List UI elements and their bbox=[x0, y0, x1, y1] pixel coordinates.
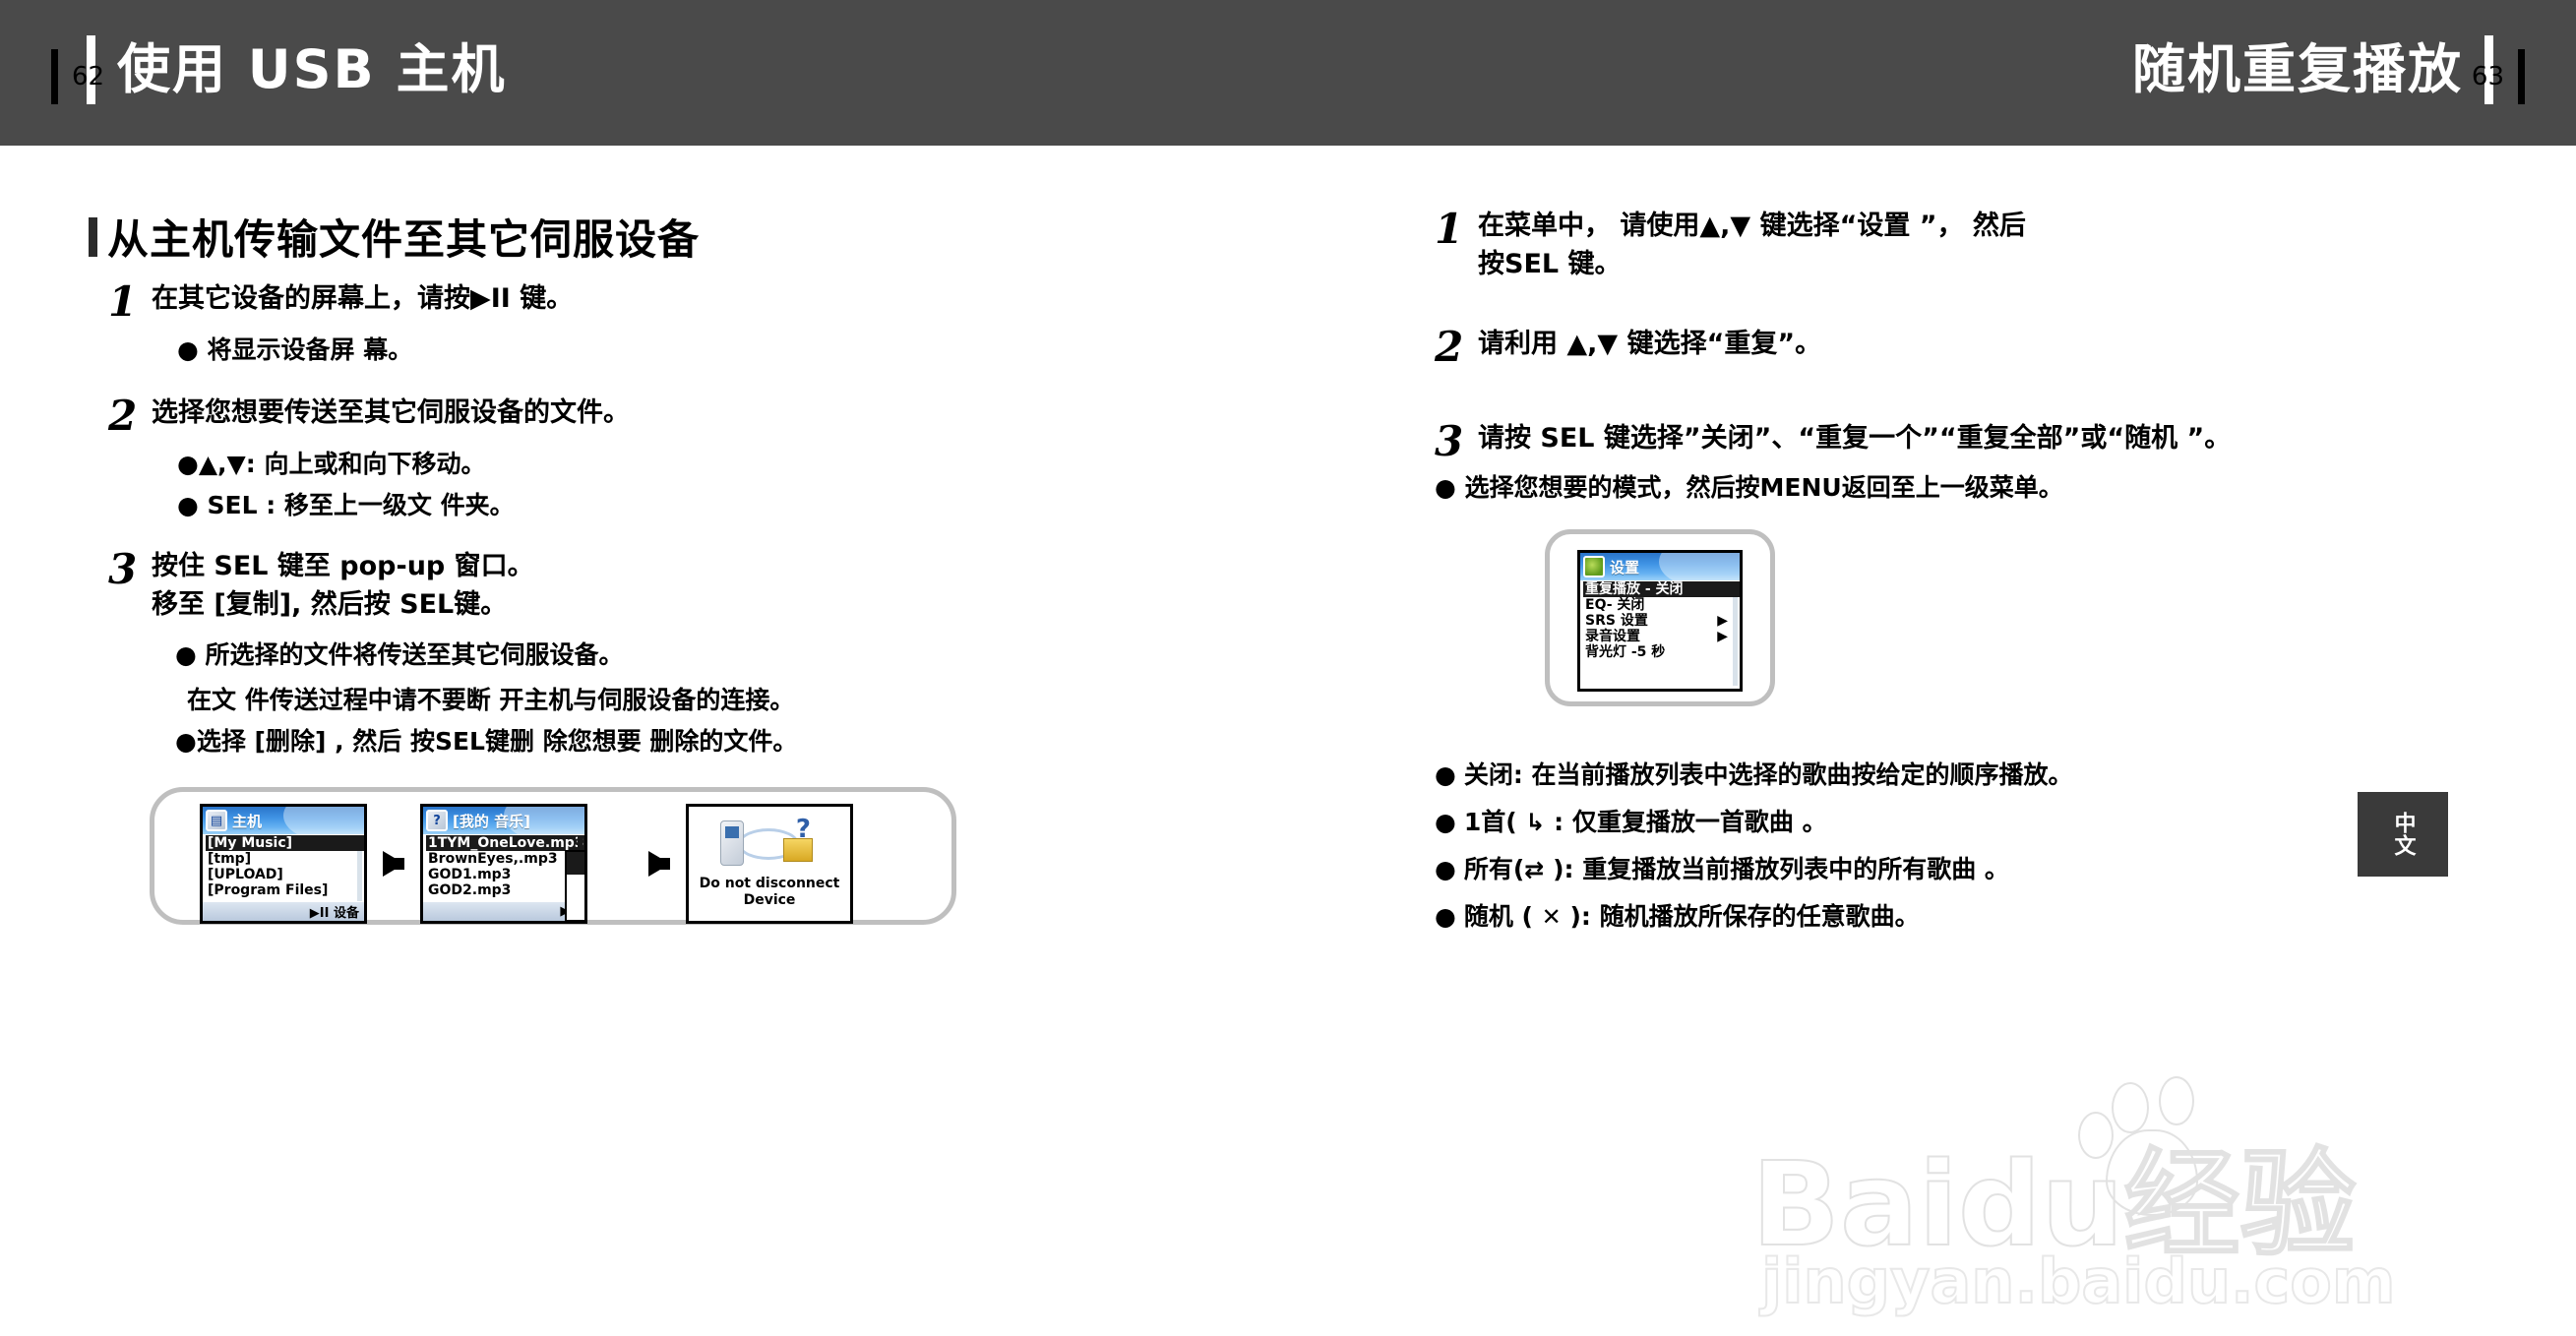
repeat-all-icon: ⇄ bbox=[1524, 856, 1544, 883]
left-section-title-row: 从主机传输文件至其它伺服设备 bbox=[89, 207, 700, 267]
left-step-3-line-1: 按住 SEL 键至 pop-up 窗口。 bbox=[152, 547, 534, 585]
mymusic-row-1-label: BrownEyes,.mp3 bbox=[428, 851, 558, 867]
left-step-2-bullet-2: ● SEL : 移至上一级文 件夹。 bbox=[177, 488, 515, 522]
left-step-3-number: 3 bbox=[108, 547, 152, 590]
left-step-2-number: 2 bbox=[108, 394, 152, 437]
host-footer: ▶II 设备 bbox=[203, 902, 364, 921]
right-step-2-number: 2 bbox=[1435, 325, 1478, 368]
settings-row-0-label: 重复播放 - 关闭 bbox=[1585, 581, 1684, 597]
left-step-2-line-1: 选择您想要传送至其它伺服设备的文件。 bbox=[152, 394, 630, 432]
device-screen-host-titlebar: ▤ 主机 bbox=[203, 807, 364, 834]
list-item[interactable]: EQ- 关闭 bbox=[1583, 597, 1740, 613]
question-folder-icon: ? bbox=[426, 810, 448, 831]
baidu-watermark-sub: jingyan.baidu.com bbox=[1761, 1245, 2395, 1317]
settings-row-2-label: SRS 设置 bbox=[1585, 613, 1648, 629]
mode-bullet-off-text: 关闭: 在当前播放列表中选择的歌曲按给定的顺序播放。 bbox=[1464, 760, 2073, 789]
left-step-1-bullet-1: ● 将显示设备屏 幕。 bbox=[177, 333, 412, 367]
mode-bullet-shuffle-pre: 随机 ( bbox=[1464, 902, 1542, 931]
mode-bullet-all-post: ): 重复播放当前播放列表中的所有歌曲 。 bbox=[1544, 855, 2009, 883]
usb-connection-illustration-icon: ? bbox=[710, 819, 828, 870]
left-step-3-line-2: 移至 [复制], 然后按 SEL键。 bbox=[152, 585, 534, 624]
right-step-2: 2 请利用 ▲,▼ 键选择“重复”。 bbox=[1435, 325, 1821, 368]
left-step-3-bullet-2: ●选择 [删除] , 然后 按SEL键删 除您想要 删除的文件。 bbox=[175, 724, 797, 759]
mode-bullet-one-pre: 1首( bbox=[1464, 808, 1526, 836]
device-screen-settings-title: 设置 bbox=[1610, 557, 1639, 577]
list-item[interactable]: GOD2.mp3 bbox=[426, 882, 584, 898]
device-screen-mymusic-title: [我的 音乐] bbox=[453, 811, 530, 831]
usb-transfer-screens-row: ▤ 主机 [My Music] [tmp] [UPLOAD] [Program … bbox=[200, 804, 853, 924]
mode-bullet-all-pre: 所有( bbox=[1464, 855, 1524, 883]
device-screen-mymusic: ? [我的 音乐] 1TYM_OneLove.mp3 BrownEyes,.mp… bbox=[420, 804, 587, 924]
mode-bullet-one-post: : 仅重复播放一首歌曲 。 bbox=[1545, 808, 1826, 836]
mode-bullet-shuffle: ●随机 ( ✕ ): 随机播放所保存的任意歌曲。 bbox=[1435, 897, 1920, 933]
left-step-3-bullet-1: ● 所选择的文件将传送至其它伺服设备。 bbox=[175, 638, 624, 672]
left-step-2-body: 选择您想要传送至其它伺服设备的文件。 bbox=[152, 394, 630, 432]
mode-bullet-all-dot-icon: ● bbox=[1435, 855, 1456, 883]
right-step-3-number: 3 bbox=[1435, 419, 1478, 462]
host-row-0-label: [My Music] bbox=[208, 835, 292, 851]
header-right-group: 随机重复播放 bbox=[2132, 35, 2493, 104]
right-step-1: 1 在菜单中， 请使用▲,▼ 键选择“设置 ”， 然后 按SEL 键。 bbox=[1435, 207, 2026, 283]
header-left-title: 使用 USB 主机 bbox=[117, 35, 507, 104]
shuffle-icon: ✕ bbox=[1542, 903, 1562, 931]
context-popup-menu: 复制 删除 放弃 bbox=[565, 850, 587, 922]
right-page-number: 63 bbox=[2472, 62, 2504, 91]
settings-row-1-label: EQ- 关闭 bbox=[1585, 597, 1644, 613]
right-step-3: 3 请按 SEL 键选择”关闭”、“重复一个”“重复全部”或“随机 ”。 bbox=[1435, 419, 2231, 462]
mode-bullet-shuffle-post: ): 随机播放所保存的任意歌曲。 bbox=[1562, 902, 1920, 931]
usb-transfer-screens-frame: ▤ 主机 [My Music] [tmp] [UPLOAD] [Program … bbox=[150, 787, 956, 925]
left-page-number: 62 bbox=[72, 62, 104, 91]
mode-bullet-one-dot-icon: ● bbox=[1435, 808, 1456, 836]
language-tab-label: 中文 bbox=[2391, 812, 2414, 857]
device-screen-settings-list: 重复播放 - 关闭 EQ- 关闭 SRS 设置▶ 录音设置▶ 背光灯 -5 秒 bbox=[1580, 580, 1740, 691]
right-step-3-bullet-1: ● 选择您想要的模式，然后按MENU返回至上一级菜单。 bbox=[1435, 470, 2063, 505]
mode-bullet-all: ●所有(⇄ ): 重复播放当前播放列表中的所有歌曲 。 bbox=[1435, 850, 2009, 885]
popup-menu-item-copy[interactable]: 复制 bbox=[567, 852, 587, 875]
list-item[interactable]: [UPLOAD] bbox=[206, 867, 364, 882]
right-step-3-body: 请按 SEL 键选择”关闭”、“重复一个”“重复全部”或“随机 ”。 bbox=[1478, 419, 2231, 457]
left-step-1-line-1: 在其它设备的屏幕上，请按▶II 键。 bbox=[152, 279, 573, 318]
settings-screen-frame: 设置 重复播放 - 关闭 EQ- 关闭 SRS 设置▶ 录音设置▶ 背光灯 -5… bbox=[1545, 529, 1775, 706]
right-step-2-body: 请利用 ▲,▼ 键选择“重复”。 bbox=[1478, 325, 1821, 363]
right-step-1-number: 1 bbox=[1435, 207, 1478, 250]
list-item[interactable]: GOD1.mp3 bbox=[426, 867, 584, 882]
right-step-1-line-2: 按SEL 键。 bbox=[1478, 245, 2026, 283]
flow-arrow-1-icon bbox=[383, 851, 404, 877]
device-folder-icon: ▤ bbox=[206, 810, 227, 831]
host-row-3-label: [Program Files] bbox=[208, 882, 328, 898]
page-body: 从主机传输文件至其它伺服设备 1 在其它设备的屏幕上，请按▶II 键。 ● 将显… bbox=[0, 146, 2576, 1294]
left-page-number-group: 62 bbox=[51, 49, 104, 104]
baidu-watermark: Baidu经验 jingyan.baidu.com bbox=[1663, 1080, 2489, 1336]
left-step-2-bullet-1: ●▲,▼: 向上或和向下移动。 bbox=[177, 447, 485, 481]
repeat-one-icon: ↳ bbox=[1525, 809, 1545, 836]
page-header: 使用 USB 主机 随机重复播放 bbox=[0, 0, 2576, 146]
left-step-1: 1 在其它设备的屏幕上，请按▶II 键。 bbox=[108, 279, 573, 323]
section-title-tick-icon bbox=[89, 217, 97, 257]
mymusic-row-3-label: GOD2.mp3 bbox=[428, 882, 511, 898]
left-step-3-body: 按住 SEL 键至 pop-up 窗口。 移至 [复制], 然后按 SEL键。 bbox=[152, 547, 534, 624]
mymusic-row-2-label: GOD1.mp3 bbox=[428, 867, 511, 882]
settings-scrollbar[interactable] bbox=[1733, 582, 1738, 686]
list-item[interactable]: 重复播放 - 关闭 bbox=[1583, 581, 1740, 597]
left-step-1-number: 1 bbox=[108, 279, 152, 323]
flow-arrow-2-icon bbox=[648, 851, 670, 877]
list-item[interactable]: [My Music] bbox=[206, 835, 364, 851]
list-item[interactable]: BrownEyes,.mp3 bbox=[426, 851, 584, 867]
device-screen-settings-titlebar: 设置 bbox=[1580, 553, 1740, 580]
device-screen-host-title: 主机 bbox=[232, 811, 262, 831]
device-screen-mymusic-list: 1TYM_OneLove.mp3 BrownEyes,.mp3 GOD1.mp3… bbox=[423, 834, 584, 905]
language-tab: 中文 bbox=[2358, 792, 2448, 877]
list-item[interactable]: 录音设置▶ bbox=[1583, 629, 1740, 644]
left-step-1-body: 在其它设备的屏幕上，请按▶II 键。 bbox=[152, 279, 573, 318]
list-item[interactable]: [Program Files] bbox=[206, 882, 364, 898]
chevron-right-icon: ▶ bbox=[1717, 629, 1728, 644]
list-item[interactable]: [tmp] bbox=[206, 851, 364, 867]
left-step-3: 3 按住 SEL 键至 pop-up 窗口。 移至 [复制], 然后按 SEL键… bbox=[108, 547, 534, 624]
list-item[interactable]: 背光灯 -5 秒 bbox=[1583, 644, 1740, 660]
device-screen-host: ▤ 主机 [My Music] [tmp] [UPLOAD] [Program … bbox=[200, 804, 367, 924]
mymusic-footer: ▶II bbox=[423, 902, 584, 921]
right-step-1-line-1: 在菜单中， 请使用▲,▼ 键选择“设置 ”， 然后 bbox=[1478, 207, 2026, 245]
right-step-1-body: 在菜单中， 请使用▲,▼ 键选择“设置 ”， 然后 按SEL 键。 bbox=[1478, 207, 2026, 283]
right-page-number-bar-icon bbox=[2518, 49, 2525, 104]
baidu-watermark-main: Baidu经验 bbox=[1751, 1110, 2357, 1278]
popup-menu-item-cancel[interactable]: 放弃 bbox=[567, 897, 587, 920]
left-page-number-bar-icon bbox=[51, 49, 58, 104]
section-title: 从主机传输文件至其它伺服设备 bbox=[107, 207, 700, 267]
device-screen-mymusic-titlebar: ? [我的 音乐] bbox=[423, 807, 584, 834]
left-step-2: 2 选择您想要传送至其它伺服设备的文件。 bbox=[108, 394, 630, 437]
right-step-2-line-1: 请利用 ▲,▼ 键选择“重复”。 bbox=[1478, 325, 1821, 363]
settings-gear-icon bbox=[1583, 556, 1605, 577]
chevron-right-icon: ▶ bbox=[1717, 613, 1728, 629]
header-left-group: 使用 USB 主机 bbox=[87, 35, 507, 104]
settings-row-4-label: 背光灯 -5 秒 bbox=[1585, 644, 1665, 660]
do-not-disconnect-line-2: Device bbox=[744, 892, 796, 909]
left-step-3-note: 在文 件传送过程中请不要断 开主机与伺服设备的连接。 bbox=[187, 681, 794, 716]
do-not-disconnect-panel: ? Do not disconnect Device bbox=[686, 804, 853, 924]
device-screen-host-list: [My Music] [tmp] [UPLOAD] [Program Files… bbox=[203, 834, 364, 905]
list-item[interactable]: 1TYM_OneLove.mp3 bbox=[426, 835, 584, 851]
mode-bullet-shuffle-dot-icon: ● bbox=[1435, 902, 1456, 931]
mode-bullet-off: ●关闭: 在当前播放列表中选择的歌曲按给定的顺序播放。 bbox=[1435, 756, 2073, 791]
host-row-2-label: [UPLOAD] bbox=[208, 867, 283, 882]
mode-bullet-one: ●1首( ↳ : 仅重复播放一首歌曲 。 bbox=[1435, 803, 1827, 838]
baidu-paw-icon bbox=[2076, 1076, 2224, 1224]
right-page-number-group: 63 bbox=[2472, 49, 2525, 104]
host-scrollbar[interactable] bbox=[357, 836, 362, 901]
mymusic-row-0-label: 1TYM_OneLove.mp3 bbox=[428, 835, 584, 851]
do-not-disconnect-line-1: Do not disconnect bbox=[700, 876, 840, 892]
device-screen-settings: 设置 重复播放 - 关闭 EQ- 关闭 SRS 设置▶ 录音设置▶ 背光灯 -5… bbox=[1577, 550, 1743, 692]
header-right-title: 随机重复播放 bbox=[2132, 35, 2463, 104]
mode-bullet-off-dot-icon: ● bbox=[1435, 760, 1456, 789]
popup-menu-item-delete[interactable]: 删除 bbox=[567, 875, 587, 897]
right-step-3-line-1: 请按 SEL 键选择”关闭”、“重复一个”“重复全部”或“随机 ”。 bbox=[1478, 419, 2231, 457]
settings-row-3-label: 录音设置 bbox=[1585, 629, 1640, 644]
list-item[interactable]: SRS 设置▶ bbox=[1583, 613, 1740, 629]
host-row-1-label: [tmp] bbox=[208, 851, 251, 867]
